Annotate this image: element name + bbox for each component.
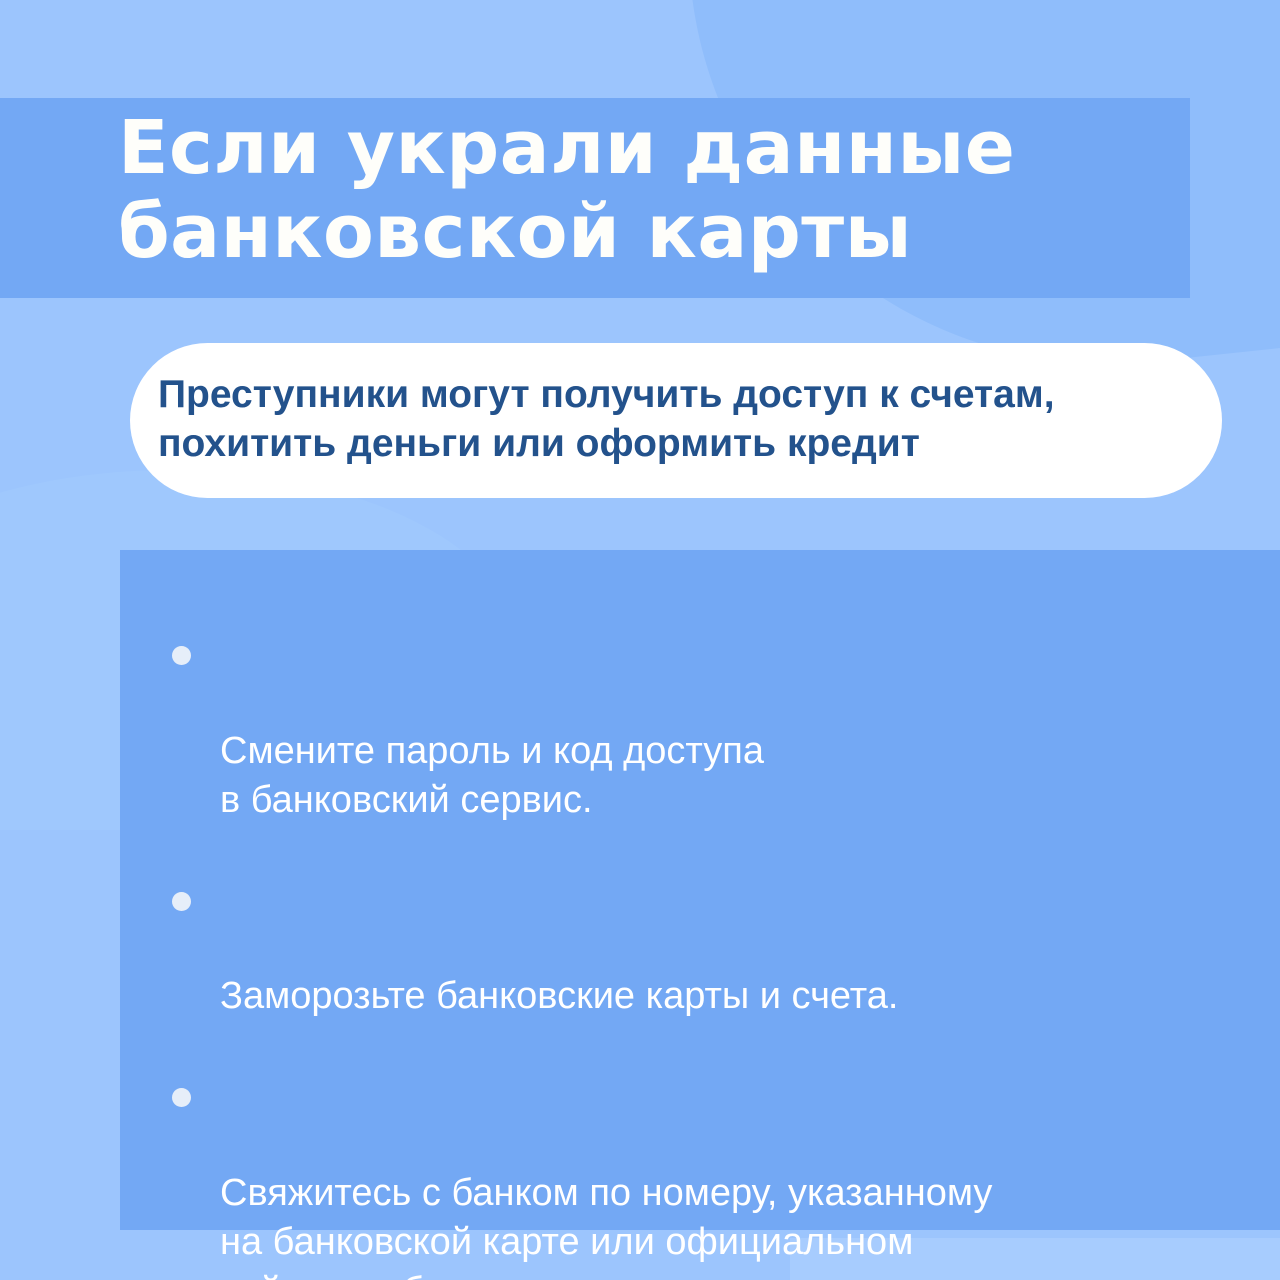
page-title: Если украли данные банковской карты [118, 106, 1178, 275]
bullet-dot-icon [172, 646, 191, 665]
list-item: Заморозьте банковские карты и счета. [162, 874, 1264, 1022]
bullet-dot-icon [172, 892, 191, 911]
list-item: Смените пароль и код доступа в банковски… [162, 628, 1264, 826]
list-item-text: Заморозьте банковские карты и счета. [220, 975, 898, 1017]
list-item-text: Свяжитесь с банком по номеру, указанному… [220, 1172, 992, 1280]
list-item-text: Смените пароль и код доступа в банковски… [220, 730, 764, 821]
infographic-poster: Если украли данные банковской карты Прес… [0, 0, 1280, 1280]
list-item: Свяжитесь с банком по номеру, указанному… [162, 1070, 1264, 1280]
bullet-dot-icon [172, 1088, 191, 1107]
advice-panel: Смените пароль и код доступа в банковски… [120, 550, 1280, 1230]
title-band: Если украли данные банковской карты [0, 98, 1190, 298]
lead-statement-text: Преступники могут получить доступ к счет… [158, 370, 1218, 468]
advice-list: Смените пароль и код доступа в банковски… [162, 628, 1264, 1280]
lead-statement-card: Преступники могут получить доступ к счет… [130, 343, 1222, 498]
